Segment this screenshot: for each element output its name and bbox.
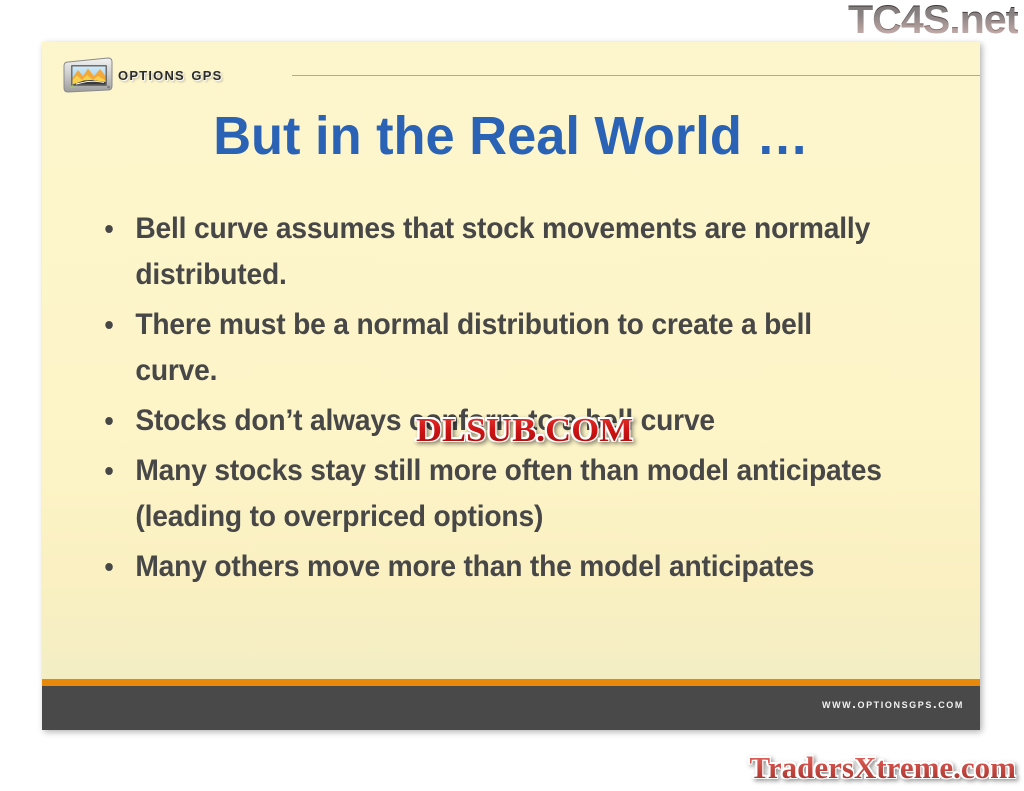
list-item-text: Many stocks stay still more often than m… xyxy=(135,454,881,533)
dlsub-watermark: DLSUB.COM xyxy=(416,414,633,448)
footer-orange-stripe xyxy=(42,679,980,686)
slide-footer-bar: www.OptionsGPS.com xyxy=(42,686,980,730)
list-item: Bell curve assumes that stock movements … xyxy=(94,206,901,298)
footer-website-url: www.OptionsGPS.com xyxy=(822,696,964,711)
list-item-text: Bell curve assumes that stock movements … xyxy=(135,212,870,291)
tradersxtreme-brand-banner: TradersXtreme.com xyxy=(749,751,1016,785)
bullet-list: Bell curve assumes that stock movements … xyxy=(94,206,952,594)
bullet-dot-icon xyxy=(105,225,113,233)
list-item-text: There must be a normal distribution to c… xyxy=(135,308,812,387)
presentation-slide: Options GPS But in the Real World … Bell… xyxy=(42,42,980,730)
gps-device-icon xyxy=(62,56,114,94)
screenshot-root: TC4S.net xyxy=(0,0,1024,791)
bullet-dot-icon xyxy=(105,563,113,571)
page-title: But in the Real World … xyxy=(56,106,966,166)
options-gps-brand-label: Options GPS xyxy=(118,64,222,86)
slide-header: Options GPS xyxy=(42,42,980,100)
bullet-dot-icon xyxy=(105,417,113,425)
list-item: Many others move more than the model ant… xyxy=(94,544,901,590)
bullet-dot-icon xyxy=(105,467,113,475)
list-item: There must be a normal distribution to c… xyxy=(94,302,901,394)
bullet-dot-icon xyxy=(105,321,113,329)
list-item: Many stocks stay still more often than m… xyxy=(94,448,901,540)
list-item-text: Many others move more than the model ant… xyxy=(135,550,814,583)
header-divider-rule xyxy=(292,75,980,76)
tc4s-brand-wordmark: TC4S.net xyxy=(848,0,1018,42)
